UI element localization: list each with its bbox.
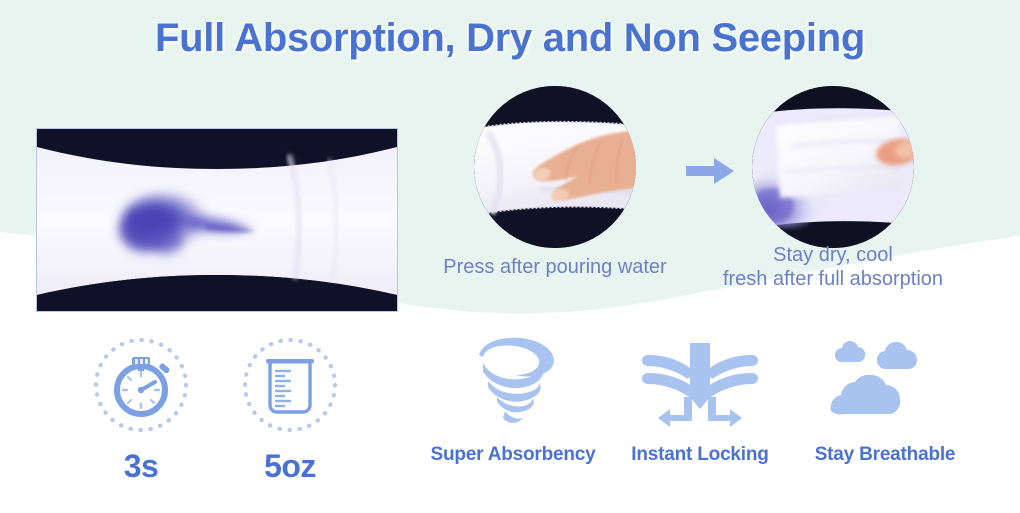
step-caption-dry-line1: Stay dry, cool — [708, 244, 958, 268]
feature-locking-label: Instant Locking — [620, 444, 780, 466]
tornado-icon — [461, 333, 565, 433]
step-image-press — [474, 86, 636, 248]
stat-volume-value: 5oz — [225, 448, 355, 485]
beaker-icon — [238, 333, 342, 437]
step-image-press-graphic — [474, 86, 636, 248]
absorption-demo-photo — [36, 128, 398, 312]
step-caption-press: Press after pouring water — [430, 256, 680, 280]
feature-absorbency-label: Super Absorbency — [420, 444, 606, 466]
step-caption-dry-line2: fresh after full absorption — [708, 268, 958, 292]
feature-breathable-label: Stay Breathable — [795, 444, 975, 466]
stopwatch-icon — [89, 333, 193, 437]
infographic-canvas: Full Absorption, Dry and Non Seeping — [0, 0, 1020, 513]
stat-time-value: 3s — [76, 448, 206, 485]
step-image-dry-graphic — [752, 86, 914, 248]
page-title: Full Absorption, Dry and Non Seeping — [0, 16, 1020, 61]
down-arrow-spread-icon — [640, 333, 760, 433]
stat-volume: 5oz — [225, 333, 355, 485]
step-image-dry — [752, 86, 914, 248]
feature-absorbency: Super Absorbency — [420, 333, 606, 466]
feature-breathable: Stay Breathable — [795, 333, 975, 466]
stat-time: 3s — [76, 333, 206, 485]
absorption-demo-photo-graphic — [37, 129, 397, 311]
feature-locking: Instant Locking — [620, 333, 780, 466]
clouds-icon — [817, 333, 953, 433]
arrow-right-icon — [684, 156, 736, 186]
step-caption-dry: Stay dry, cool fresh after full absorpti… — [708, 244, 958, 291]
